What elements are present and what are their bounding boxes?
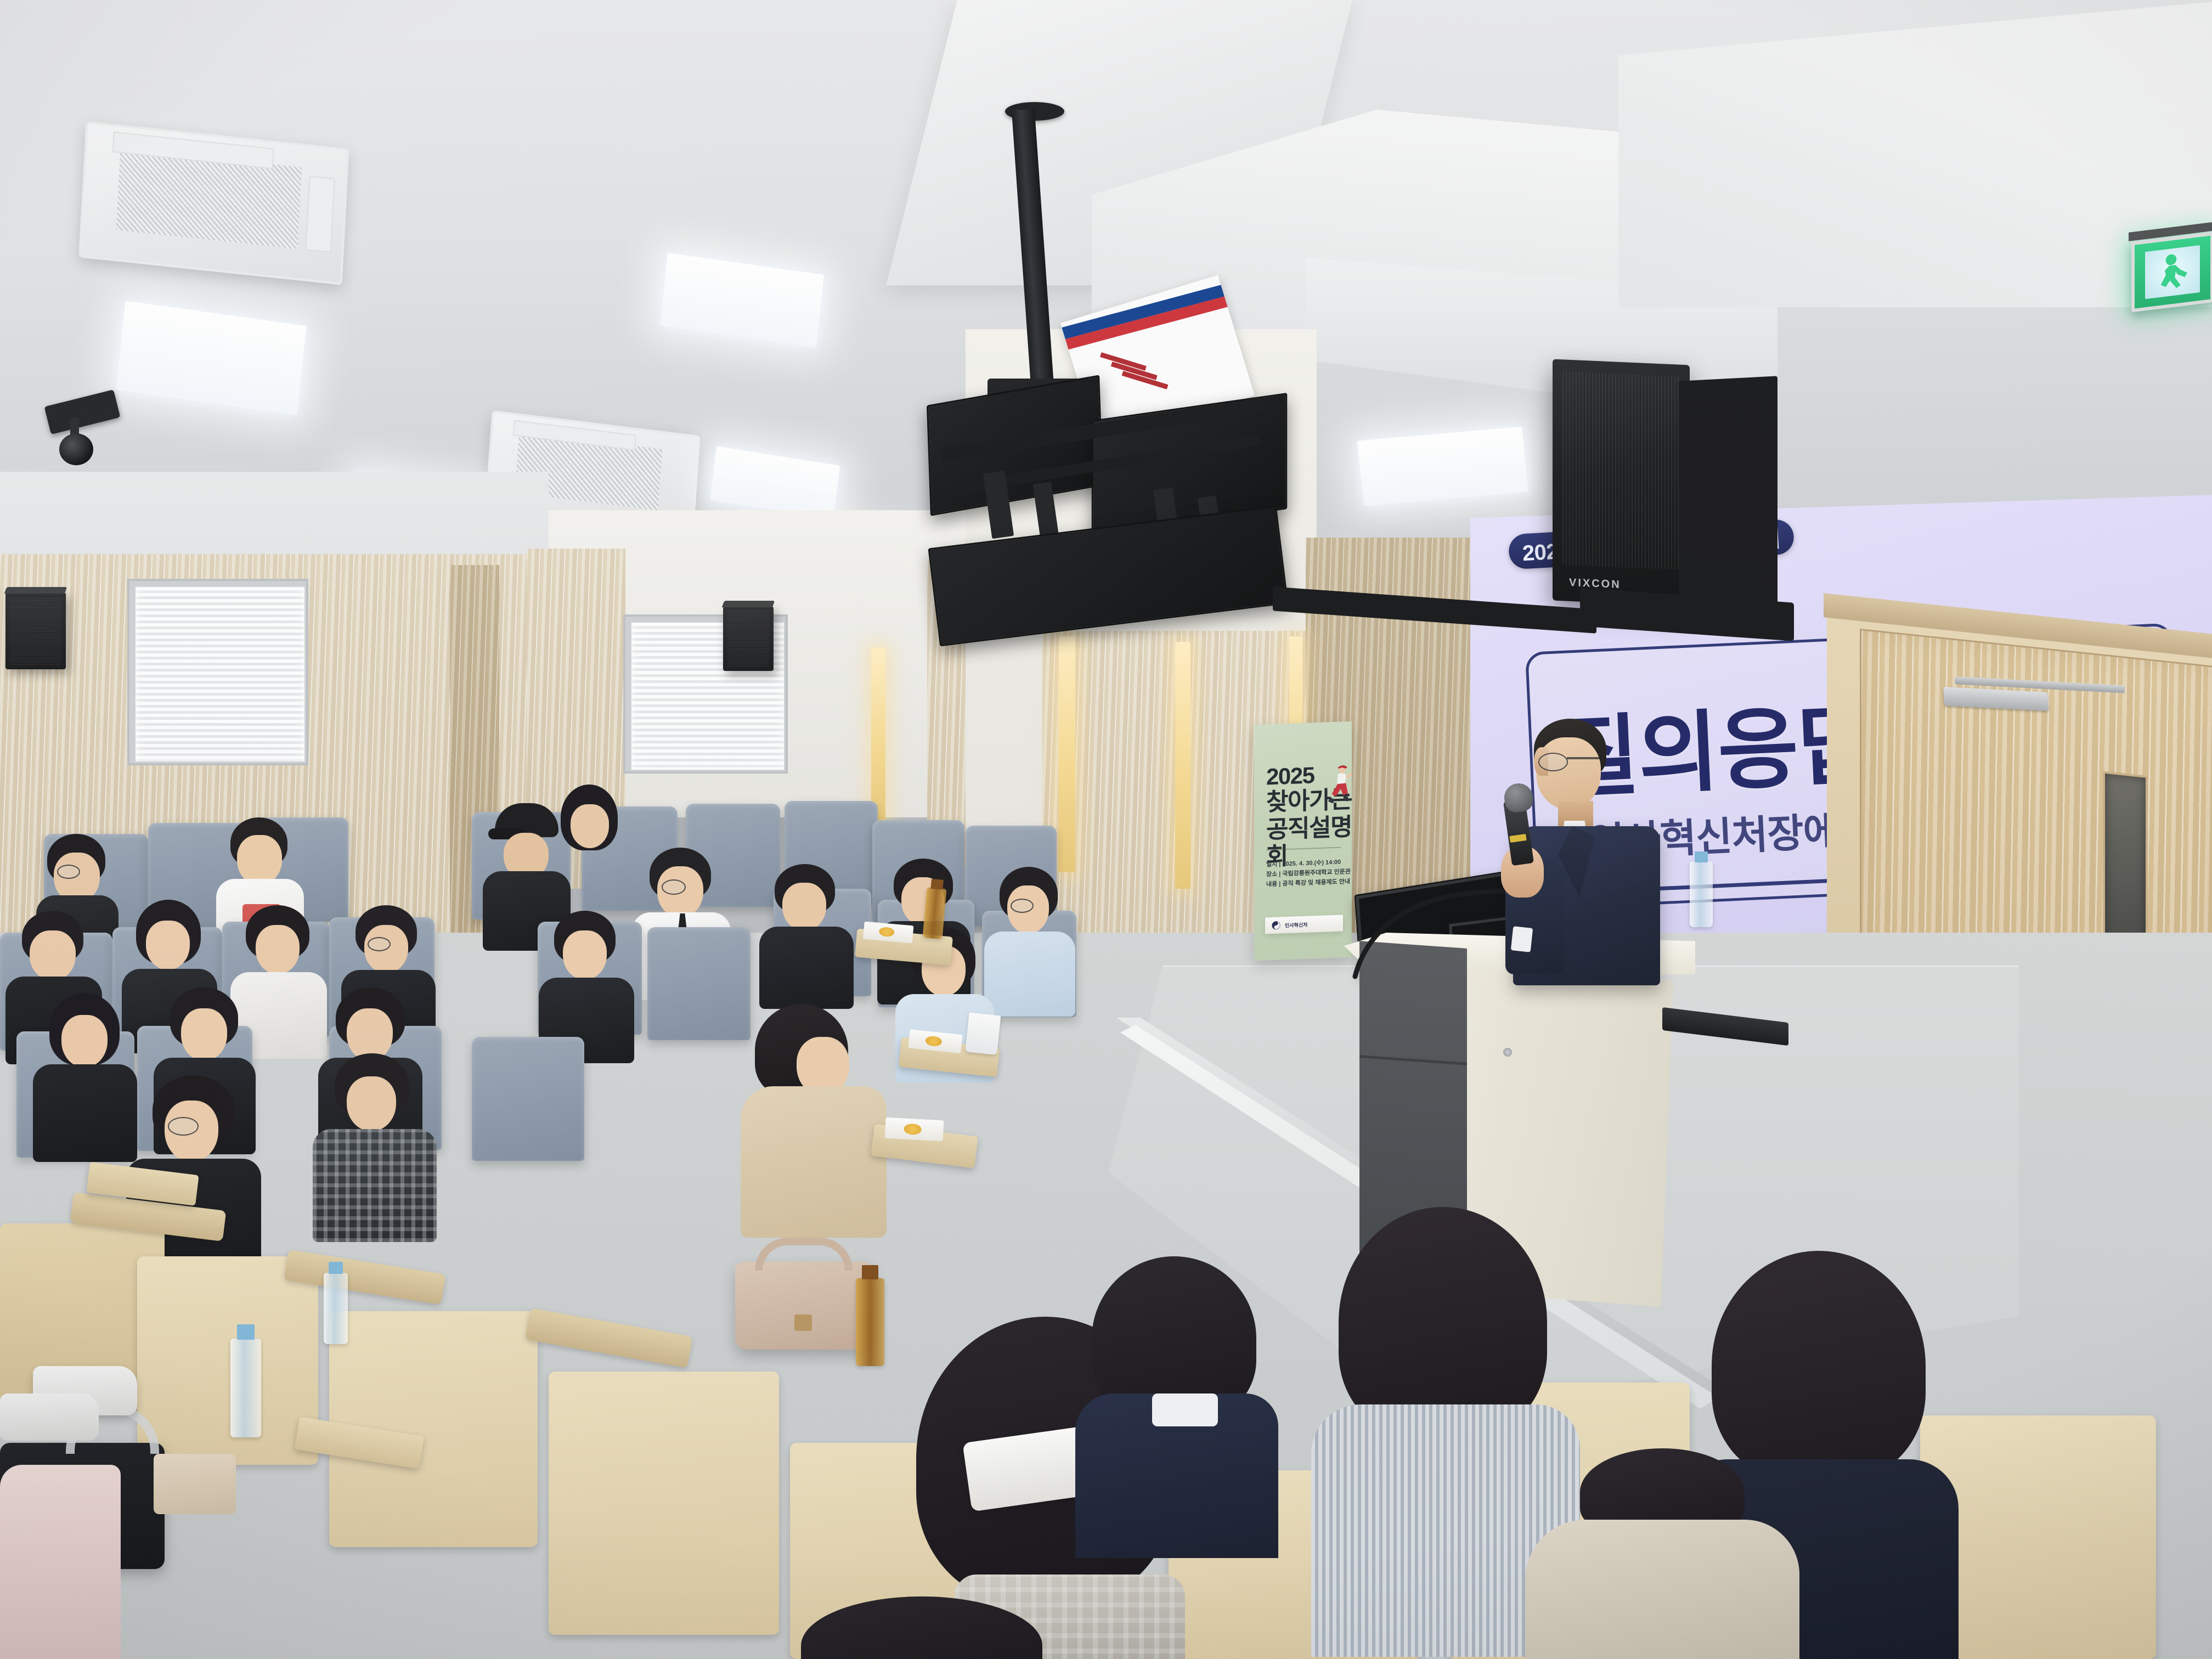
audience-member-beige-coat — [735, 1004, 894, 1240]
bag-clasp — [794, 1314, 812, 1331]
hair-back — [1712, 1251, 1926, 1481]
beige-coat — [741, 1086, 887, 1238]
banner-year: 2025 — [1266, 762, 1314, 789]
foreground-audience-member — [1064, 1256, 1295, 1553]
presenter-glasses-temple — [1567, 757, 1600, 759]
water-bottle — [1690, 861, 1713, 927]
audience-member — [33, 993, 140, 1158]
seat-back-panel[interactable] — [137, 1256, 318, 1465]
shirt-collar — [1152, 1393, 1218, 1426]
audience-member — [757, 864, 856, 1001]
hair-back — [1339, 1207, 1547, 1437]
window-frame-left — [127, 579, 308, 765]
ac-vane — [305, 176, 335, 252]
presenter-glasses — [1538, 753, 1568, 771]
wall-speaker — [723, 606, 774, 671]
lecture-hall-photo: SAMSUNG — [0, 0, 2212, 1659]
pink-garment — [0, 1465, 121, 1659]
presenter — [1481, 719, 1662, 982]
snack-pack — [885, 1118, 944, 1141]
paper-cup — [965, 1012, 1001, 1055]
plaid-shirt — [313, 1129, 437, 1242]
handbag — [735, 1262, 872, 1350]
audience-member — [313, 1053, 439, 1240]
ceiling-camera-lens — [59, 433, 93, 465]
wall-speaker — [5, 592, 66, 669]
water-bottle — [324, 1273, 348, 1344]
snack-pack — [863, 922, 913, 944]
cream-jacket — [1525, 1520, 1799, 1659]
audience-member — [549, 785, 631, 894]
gov-label: 인사혁신처 — [1285, 921, 1307, 928]
wall-light-slot — [1175, 642, 1190, 889]
wall-light-slot — [1059, 636, 1075, 872]
exit-sign-panel — [2145, 245, 2199, 299]
sneaker — [0, 1393, 99, 1441]
running-person-icon — [2149, 249, 2195, 296]
tea-bottle — [856, 1278, 884, 1366]
audience-member — [982, 867, 1078, 1009]
water-bottle — [230, 1339, 261, 1437]
gov-taegeuk-icon — [1272, 921, 1280, 930]
pa-speaker-mount — [1679, 376, 1778, 611]
pa-speaker-mesh — [1562, 371, 1680, 569]
window-blind[interactable] — [134, 585, 306, 763]
door-closer — [1943, 687, 2049, 711]
seat-back-panel[interactable] — [549, 1372, 779, 1635]
banner-logo-strip: 인사혁신처 — [1265, 915, 1343, 934]
audience-member — [538, 911, 636, 1058]
phone-on-desk — [154, 1454, 236, 1514]
pa-speaker: VIXCON — [1553, 359, 1690, 607]
ac-cassette-unit: SAMSUNG — [78, 121, 349, 285]
presenter-cuff — [1511, 926, 1533, 952]
foreground-audience-member — [1503, 1448, 1810, 1659]
seat[interactable] — [472, 1037, 584, 1161]
ac-grille — [116, 148, 302, 249]
exit-sign — [2131, 232, 2212, 312]
podium-screw — [1503, 1048, 1512, 1057]
